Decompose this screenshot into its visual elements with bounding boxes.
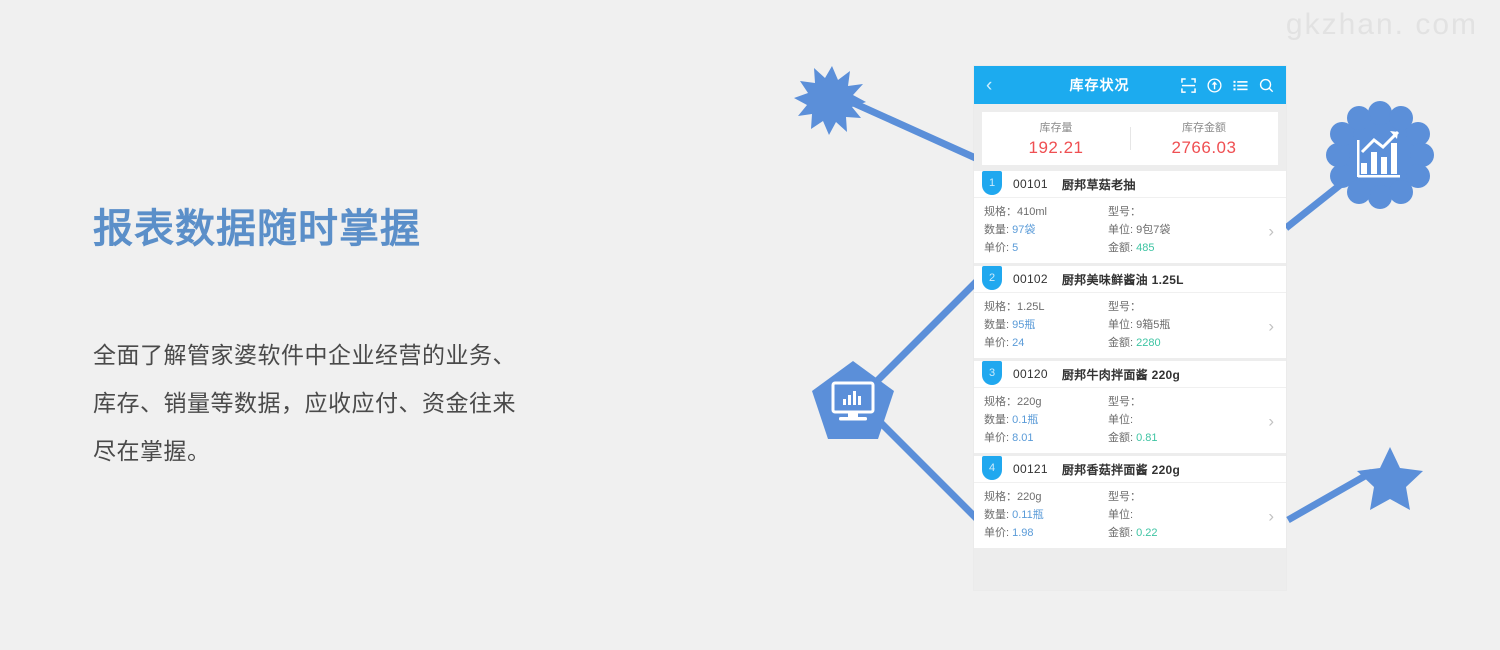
row-index-badge: 2 bbox=[982, 266, 1002, 290]
label-amount: 金额: bbox=[1108, 527, 1133, 539]
value-spec: 220g bbox=[1017, 396, 1041, 408]
chevron-right-icon[interactable]: › bbox=[1268, 222, 1274, 239]
label-qty: 数量: bbox=[984, 319, 1009, 331]
value-price: 24 bbox=[1012, 337, 1024, 349]
upload-circle-icon[interactable] bbox=[1207, 78, 1222, 93]
row-header: 2 00102 厨邦美味鲜酱油 1.25L bbox=[974, 266, 1286, 293]
row-unit: 单位: bbox=[1108, 506, 1228, 524]
row-price: 单价: 5 bbox=[984, 239, 1108, 257]
summary-card: 库存量 192.21 库存金额 2766.03 bbox=[982, 112, 1278, 165]
label-amount: 金额: bbox=[1108, 432, 1133, 444]
label-unit: 单位: bbox=[1108, 414, 1133, 426]
label-price: 单价: bbox=[984, 527, 1009, 539]
starburst-badge bbox=[794, 66, 866, 135]
row-details: 规格：220g 数量: 0.1瓶 单价: 8.01 型号： 单位: 金额: 0.… bbox=[974, 388, 1286, 453]
row-name: 厨邦美味鲜酱油 1.25L bbox=[1062, 271, 1184, 288]
chevron-right-icon[interactable]: › bbox=[1268, 317, 1274, 334]
row-col-left: 规格：220g 数量: 0.1瓶 单价: 8.01 bbox=[984, 393, 1108, 447]
row-col-right: 型号： 单位: 9包7袋 金额: 485 bbox=[1108, 203, 1228, 257]
label-qty: 数量: bbox=[984, 224, 1009, 236]
row-index-badge: 1 bbox=[982, 171, 1002, 195]
row-col-right: 型号： 单位: 9箱5瓶 金额: 2280 bbox=[1108, 298, 1228, 352]
row-name: 厨邦牛肉拌面酱 220g bbox=[1062, 366, 1180, 383]
label-unit: 单位: bbox=[1108, 319, 1133, 331]
star-badge bbox=[1357, 447, 1423, 510]
row-unit: 单位: 9箱5瓶 bbox=[1108, 316, 1228, 334]
row-col-left: 规格：410ml 数量: 97袋 单价: 5 bbox=[984, 203, 1108, 257]
row-model: 型号： bbox=[1108, 488, 1228, 506]
row-qty: 数量: 97袋 bbox=[984, 221, 1108, 239]
row-col-left: 规格：1.25L 数量: 95瓶 单价: 24 bbox=[984, 298, 1108, 352]
connector-line-mid-down bbox=[876, 418, 978, 520]
row-code: 00101 bbox=[1013, 177, 1048, 191]
value-qty: 95瓶 bbox=[1012, 319, 1035, 331]
search-icon[interactable] bbox=[1259, 78, 1274, 93]
row-model: 型号： bbox=[1108, 203, 1228, 221]
row-details: 规格：410ml 数量: 97袋 单价: 5 型号： 单位: 9包7袋 金额: … bbox=[974, 198, 1286, 263]
scan-icon[interactable] bbox=[1181, 78, 1196, 93]
value-price: 1.98 bbox=[1012, 527, 1033, 539]
value-unit: 9包7袋 bbox=[1136, 224, 1170, 236]
table-row[interactable]: 4 00121 厨邦香菇拌面酱 220g 规格：220g 数量: 0.11瓶 单… bbox=[974, 456, 1286, 548]
page-canvas: gkzhan. com 报表数据随时掌握 全面了解管家婆软件中企业经营的业务、 … bbox=[0, 0, 1500, 650]
label-spec: 规格： bbox=[984, 396, 1017, 408]
row-name: 厨邦草菇老抽 bbox=[1062, 176, 1136, 193]
table-row[interactable]: 3 00120 厨邦牛肉拌面酱 220g 规格：220g 数量: 0.1瓶 单价… bbox=[974, 361, 1286, 453]
phone-mockup: ‹ 库存状况 bbox=[974, 66, 1286, 590]
value-spec: 410ml bbox=[1017, 206, 1047, 218]
row-header: 1 00101 厨邦草菇老抽 bbox=[974, 171, 1286, 198]
row-index-badge: 4 bbox=[982, 456, 1002, 480]
row-qty: 数量: 95瓶 bbox=[984, 316, 1108, 334]
list-icon[interactable] bbox=[1233, 78, 1248, 93]
row-amount: 金额: 0.22 bbox=[1108, 524, 1228, 542]
label-spec: 规格： bbox=[984, 206, 1017, 218]
row-col-right: 型号： 单位: 金额: 0.22 bbox=[1108, 488, 1228, 542]
value-qty: 0.11瓶 bbox=[1012, 509, 1044, 521]
table-row[interactable]: 2 00102 厨邦美味鲜酱油 1.25L 规格：1.25L 数量: 95瓶 单… bbox=[974, 266, 1286, 358]
label-model: 型号： bbox=[1108, 491, 1141, 503]
row-col-right: 型号： 单位: 金额: 0.81 bbox=[1108, 393, 1228, 447]
stat-value: 192.21 bbox=[982, 138, 1130, 158]
header-actions bbox=[1181, 78, 1276, 93]
row-spec: 规格：220g bbox=[984, 488, 1108, 506]
label-model: 型号： bbox=[1108, 396, 1141, 408]
row-header: 4 00121 厨邦香菇拌面酱 220g bbox=[974, 456, 1286, 483]
stat-stock-amount: 库存金额 2766.03 bbox=[1130, 119, 1278, 158]
row-header: 3 00120 厨邦牛肉拌面酱 220g bbox=[974, 361, 1286, 388]
connector-line-right-bottom bbox=[1288, 472, 1372, 520]
page-title: 库存状况 bbox=[1008, 75, 1181, 95]
inventory-list: 1 00101 厨邦草菇老抽 规格：410ml 数量: 97袋 单价: 5 型号… bbox=[974, 171, 1286, 590]
row-name: 厨邦香菇拌面酱 220g bbox=[1062, 461, 1180, 478]
value-amount: 485 bbox=[1136, 242, 1154, 254]
row-code: 00102 bbox=[1013, 272, 1048, 286]
label-spec: 规格： bbox=[984, 491, 1017, 503]
row-unit: 单位: bbox=[1108, 411, 1228, 429]
label-price: 单价: bbox=[984, 242, 1009, 254]
table-row[interactable]: 1 00101 厨邦草菇老抽 规格：410ml 数量: 97袋 单价: 5 型号… bbox=[974, 171, 1286, 263]
value-amount: 0.22 bbox=[1136, 527, 1157, 539]
value-amount: 2280 bbox=[1136, 337, 1160, 349]
back-icon[interactable]: ‹ bbox=[986, 76, 1008, 95]
label-price: 单价: bbox=[984, 337, 1009, 349]
scalloped-chart-badge bbox=[1326, 101, 1434, 209]
connector-line-top bbox=[838, 96, 980, 160]
row-code: 00121 bbox=[1013, 462, 1048, 476]
connector-line-mid-up bbox=[876, 280, 978, 382]
row-model: 型号： bbox=[1108, 298, 1228, 316]
row-price: 单价: 8.01 bbox=[984, 429, 1108, 447]
label-unit: 单位: bbox=[1108, 509, 1133, 521]
row-spec: 规格：1.25L bbox=[984, 298, 1108, 316]
stat-label: 库存量 bbox=[982, 119, 1130, 135]
stat-label: 库存金额 bbox=[1130, 119, 1278, 135]
row-price: 单价: 1.98 bbox=[984, 524, 1108, 542]
row-qty: 数量: 0.1瓶 bbox=[984, 411, 1108, 429]
row-amount: 金额: 0.81 bbox=[1108, 429, 1228, 447]
label-qty: 数量: bbox=[984, 414, 1009, 426]
row-details: 规格：220g 数量: 0.11瓶 单价: 1.98 型号： 单位: 金额: 0… bbox=[974, 483, 1286, 548]
row-amount: 金额: 2280 bbox=[1108, 334, 1228, 352]
value-amount: 0.81 bbox=[1136, 432, 1157, 444]
value-price: 8.01 bbox=[1012, 432, 1033, 444]
value-spec: 1.25L bbox=[1017, 301, 1045, 313]
app-header: ‹ 库存状况 bbox=[974, 66, 1286, 104]
row-amount: 金额: 485 bbox=[1108, 239, 1228, 257]
stat-value: 2766.03 bbox=[1130, 138, 1278, 158]
label-unit: 单位: bbox=[1108, 224, 1133, 236]
row-index-badge: 3 bbox=[982, 361, 1002, 385]
row-model: 型号： bbox=[1108, 393, 1228, 411]
row-qty: 数量: 0.11瓶 bbox=[984, 506, 1108, 524]
label-price: 单价: bbox=[984, 432, 1009, 444]
value-qty: 97袋 bbox=[1012, 224, 1035, 236]
chevron-right-icon[interactable]: › bbox=[1268, 412, 1274, 429]
chevron-right-icon[interactable]: › bbox=[1268, 507, 1274, 524]
value-spec: 220g bbox=[1017, 491, 1041, 503]
label-model: 型号： bbox=[1108, 301, 1141, 313]
row-details: 规格：1.25L 数量: 95瓶 单价: 24 型号： 单位: 9箱5瓶 金额:… bbox=[974, 293, 1286, 358]
label-amount: 金额: bbox=[1108, 337, 1133, 349]
row-unit: 单位: 9包7袋 bbox=[1108, 221, 1228, 239]
label-spec: 规格： bbox=[984, 301, 1017, 313]
row-col-left: 规格：220g 数量: 0.11瓶 单价: 1.98 bbox=[984, 488, 1108, 542]
label-amount: 金额: bbox=[1108, 242, 1133, 254]
value-qty: 0.1瓶 bbox=[1012, 414, 1038, 426]
row-spec: 规格：220g bbox=[984, 393, 1108, 411]
label-model: 型号： bbox=[1108, 206, 1141, 218]
value-unit: 9箱5瓶 bbox=[1136, 319, 1170, 331]
row-code: 00120 bbox=[1013, 367, 1048, 381]
value-price: 5 bbox=[1012, 242, 1018, 254]
list-bottom-spacer bbox=[974, 551, 1286, 590]
stat-stock-quantity: 库存量 192.21 bbox=[982, 119, 1130, 158]
row-spec: 规格：410ml bbox=[984, 203, 1108, 221]
label-qty: 数量: bbox=[984, 509, 1009, 521]
row-price: 单价: 24 bbox=[984, 334, 1108, 352]
